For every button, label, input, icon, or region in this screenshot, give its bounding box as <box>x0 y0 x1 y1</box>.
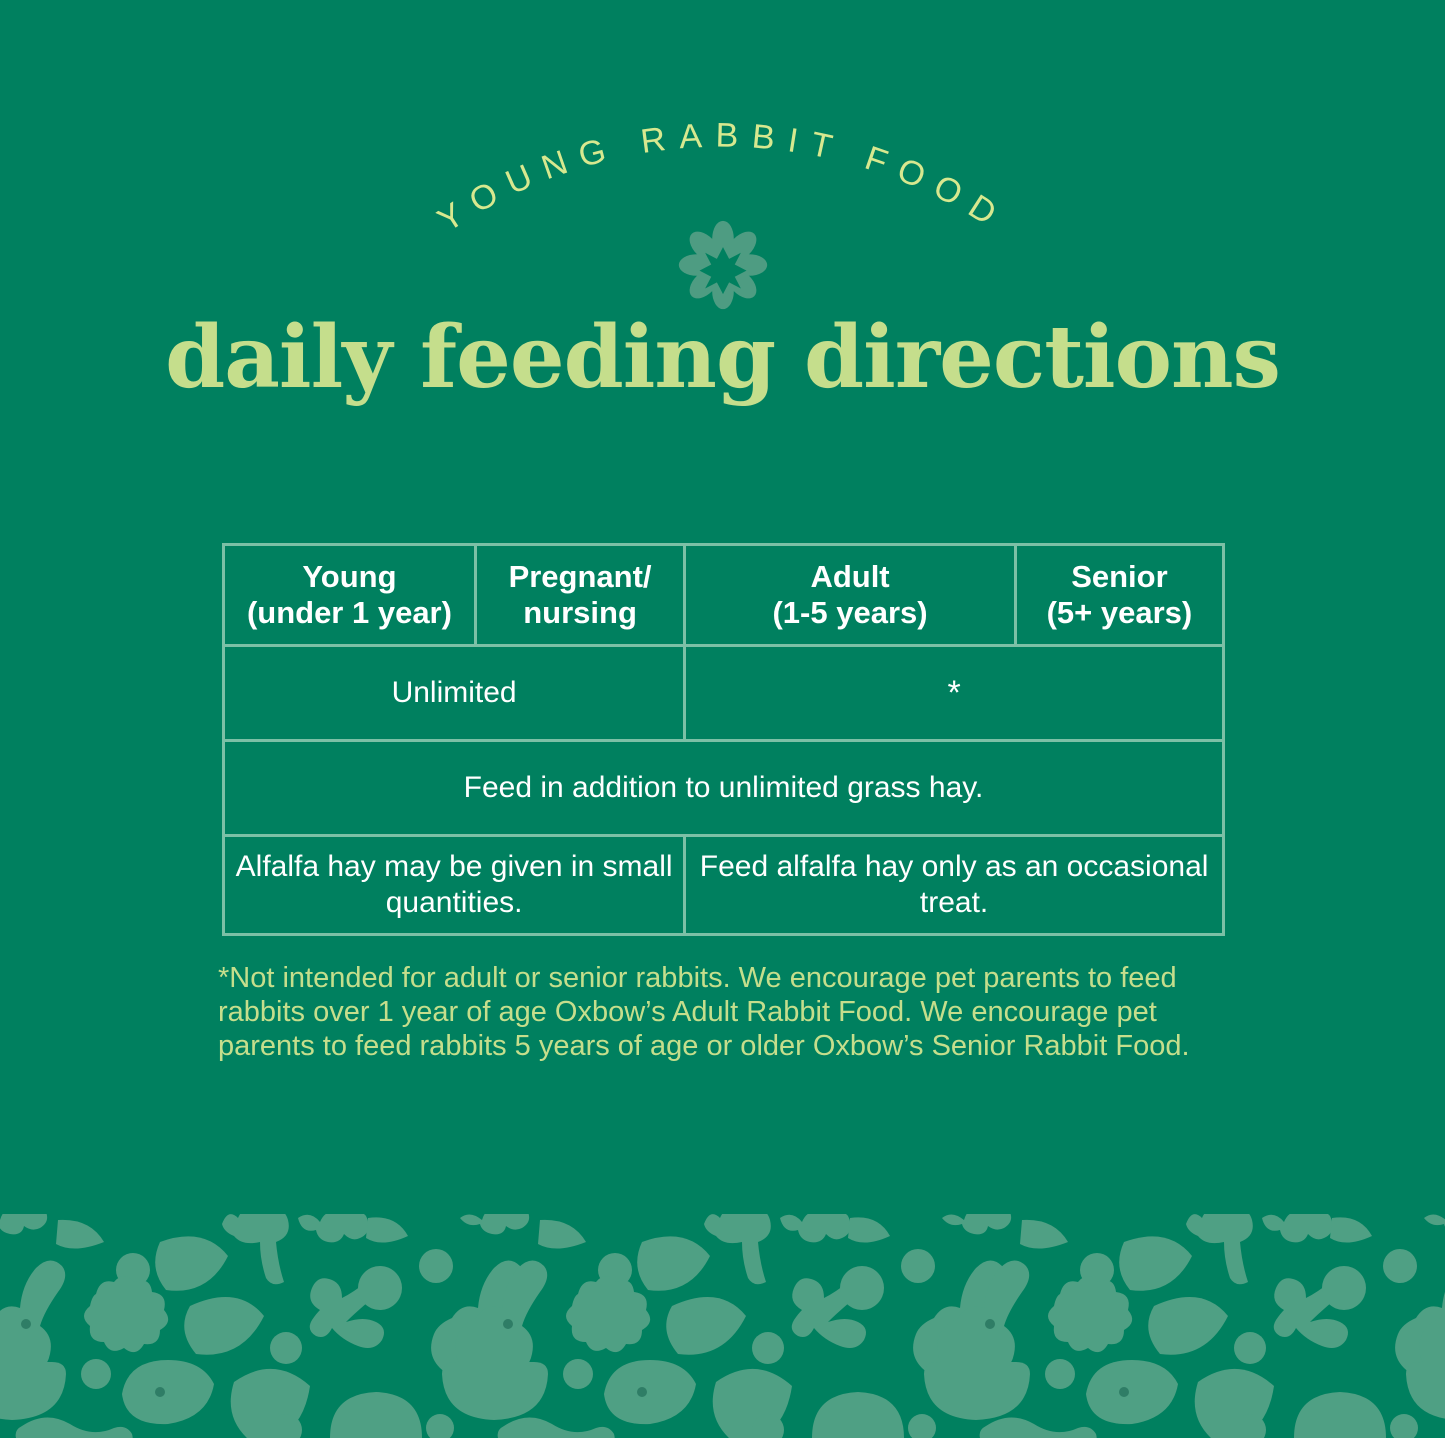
cell-grass-hay-note: Feed in addition to unlimited grass hay. <box>222 742 1225 837</box>
rosette-svg <box>676 218 770 312</box>
cell-amount-young-pregnant: Unlimited <box>222 647 686 742</box>
column-header-pregnant: Pregnant/ nursing <box>477 543 686 647</box>
column-header-adult-line1: Adult <box>810 559 889 594</box>
table-row: Feed in addition to unlimited grass hay. <box>222 742 1225 837</box>
table-row: Unlimited * <box>222 647 1225 742</box>
cell-alfalfa-adult-senior: Feed alfalfa hay only as an occasional t… <box>686 837 1225 936</box>
column-header-adult-line2: (1-5 years) <box>772 595 927 630</box>
botanical-pattern-svg <box>0 1214 1445 1438</box>
column-header-senior-line2: (5+ years) <box>1047 595 1193 630</box>
rosette-star-center <box>700 247 747 294</box>
column-header-senior-line1: Senior <box>1071 559 1167 594</box>
column-header-young: Young (under 1 year) <box>222 543 477 647</box>
page-title: daily feeding directions <box>0 315 1445 401</box>
column-header-adult: Adult (1-5 years) <box>686 543 1017 647</box>
botanical-pattern <box>0 1214 1445 1438</box>
bottom-white-strip <box>0 1438 1445 1445</box>
feeding-table: Young (under 1 year) Pregnant/ nursing A… <box>222 543 1225 936</box>
table-row: Alfalfa hay may be given in small quanti… <box>222 837 1225 936</box>
feeding-directions-panel: YOUNG RABBIT FOOD daily feeding <box>0 0 1445 1445</box>
column-header-young-line1: Young <box>302 559 396 594</box>
column-header-pregnant-line1: Pregnant/ <box>509 559 652 594</box>
cell-amount-adult-senior: * <box>686 647 1225 742</box>
column-header-pregnant-line2: nursing <box>523 595 637 630</box>
column-header-senior: Senior (5+ years) <box>1017 543 1225 647</box>
footnote-text: *Not intended for adult or senior rabbit… <box>218 962 1230 1064</box>
table-header-row: Young (under 1 year) Pregnant/ nursing A… <box>222 543 1225 647</box>
column-header-young-line2: (under 1 year) <box>247 595 452 630</box>
flower-rosette-icon <box>676 218 770 312</box>
cell-alfalfa-young-pregnant: Alfalfa hay may be given in small quanti… <box>222 837 686 936</box>
